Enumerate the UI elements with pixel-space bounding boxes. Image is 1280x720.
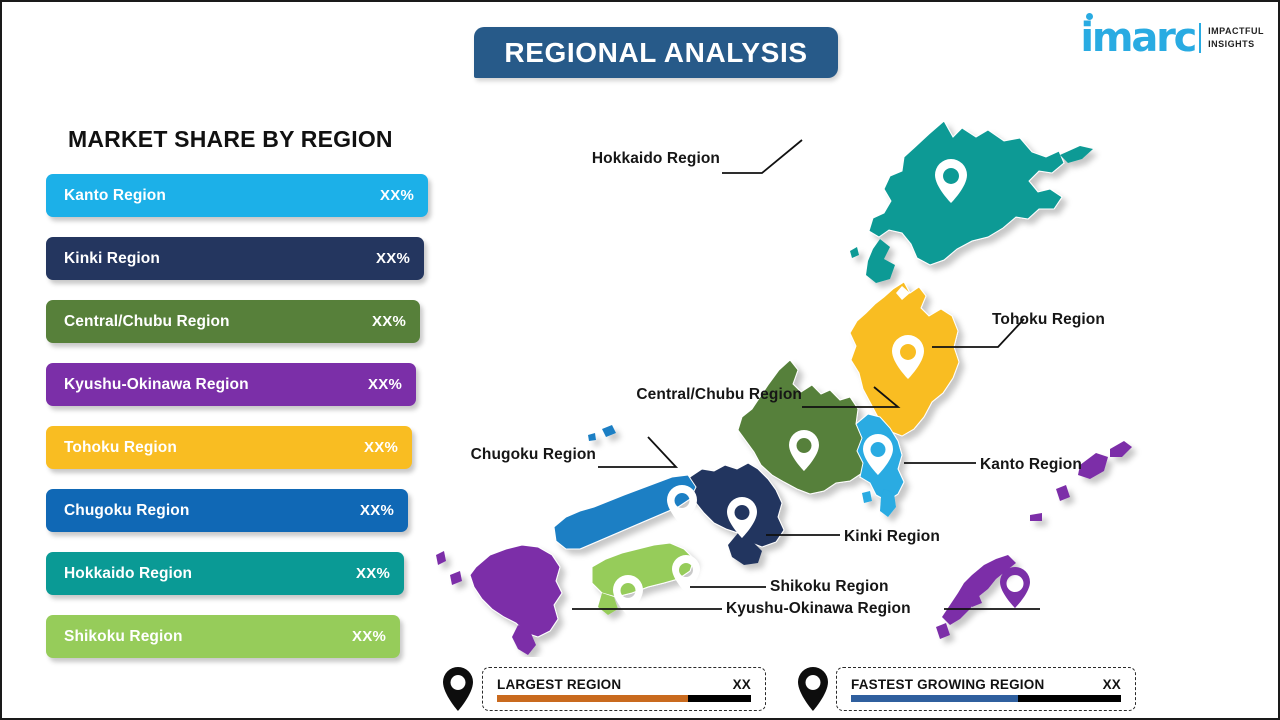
map-label-kyushu: Kyushu-Okinawa Region — [726, 600, 911, 618]
map-label-tohoku: Tohoku Region — [992, 311, 1105, 329]
legend-row[interactable]: Central/Chubu RegionXX% — [46, 300, 420, 343]
legend-row-label: Chugoku Region — [64, 502, 360, 520]
fastest-region-value: XX — [1103, 677, 1121, 692]
logo-tagline-line2: INSIGHTS — [1208, 38, 1264, 51]
map-island-goto — [450, 571, 462, 585]
legend-row-label: Shikoku Region — [64, 628, 352, 646]
legend-row-label: Kanto Region — [64, 187, 380, 205]
largest-region-value: XX — [733, 677, 751, 692]
legend-row-value: XX% — [368, 376, 402, 393]
map-region-kanto-izu — [862, 491, 872, 503]
map-island-amami2 — [1110, 441, 1132, 457]
legend-row-label: Tohoku Region — [64, 439, 364, 457]
slide-root: REGIONAL ANALYSIS imarc IMPACTFUL INSIGH… — [0, 0, 1280, 720]
legend-row-value: XX% — [364, 439, 398, 456]
legend-row[interactable]: Chugoku RegionXX% — [46, 489, 408, 532]
market-share-legend-list: Kanto RegionXX%Kinki RegionXX%Central/Ch… — [46, 174, 428, 678]
map-label-shikoku: Shikoku Region — [770, 578, 889, 596]
market-share-heading: MARKET SHARE BY REGION — [68, 126, 393, 153]
largest-region-pin-icon — [440, 665, 476, 713]
logo-tagline-line1: IMPACTFUL — [1208, 25, 1264, 38]
map-label-kinki: Kinki Region — [844, 528, 940, 546]
legend-row[interactable]: Kinki RegionXX% — [46, 237, 424, 280]
fastest-region-label: FASTEST GROWING REGION — [851, 677, 1044, 692]
map-label-hokkaido: Hokkaido Region — [592, 150, 720, 168]
largest-region-box[interactable]: LARGEST REGION XX — [482, 667, 766, 711]
legend-row-label: Kyushu-Okinawa Region — [64, 376, 368, 394]
fastest-region-progress-fill — [851, 695, 1018, 702]
map-island-tsushima — [436, 551, 446, 565]
legend-row-label: Hokkaido Region — [64, 565, 356, 583]
legend-row-value: XX% — [352, 628, 386, 645]
legend-row[interactable]: Kyushu-Okinawa RegionXX% — [46, 363, 416, 406]
fastest-region-pin-icon — [795, 665, 831, 713]
map-label-chubu: Central/Chubu Region — [636, 386, 802, 404]
map-island-amami — [1078, 453, 1108, 479]
legend-row[interactable]: Tohoku RegionXX% — [46, 426, 412, 469]
legend-row[interactable]: Hokkaido RegionXX% — [46, 552, 404, 595]
imarc-logo: imarc IMPACTFUL INSIGHTS — [1080, 16, 1264, 60]
legend-row-value: XX% — [360, 502, 394, 519]
japan-map-svg — [432, 97, 1232, 657]
map-region-hokkaido[interactable] — [869, 121, 1064, 265]
largest-region-progress-track — [497, 695, 751, 702]
logo-tagline: IMPACTFUL INSIGHTS — [1208, 25, 1264, 51]
map-label-chugoku: Chugoku Region — [471, 446, 596, 464]
fastest-region-top: FASTEST GROWING REGION XX — [851, 677, 1121, 692]
map-region-hokkaido-sw — [866, 239, 895, 283]
map-region-hokkaido-tail — [1060, 146, 1093, 163]
leader-chugoku — [598, 437, 676, 467]
map-island-okinoerabu — [1030, 513, 1042, 521]
page-title: REGIONAL ANALYSIS — [504, 37, 807, 69]
page-title-banner: REGIONAL ANALYSIS — [474, 27, 838, 78]
largest-region-label: LARGEST REGION — [497, 677, 621, 692]
map-island-okushiri — [850, 247, 859, 258]
japan-map: Hokkaido Region Tohoku Region Kanto Regi… — [432, 97, 1232, 657]
largest-region-top: LARGEST REGION XX — [497, 677, 751, 692]
leader-hokkaido — [722, 140, 802, 173]
map-region-tohoku[interactable] — [850, 282, 959, 436]
fastest-region-box[interactable]: FASTEST GROWING REGION XX — [836, 667, 1136, 711]
map-region-okinawa-b — [936, 623, 950, 639]
fastest-region-progress-track — [851, 695, 1121, 702]
legend-row-value: XX% — [372, 313, 406, 330]
legend-row-value: XX% — [376, 250, 410, 267]
map-island-oki — [602, 425, 616, 437]
logo-wordmark: imarc — [1080, 18, 1195, 58]
legend-row-label: Kinki Region — [64, 250, 376, 268]
legend-row[interactable]: Shikoku RegionXX% — [46, 615, 400, 658]
logo-wordmark-text: imarc — [1080, 15, 1195, 61]
pin-chugoku-icon — [667, 485, 697, 526]
map-label-kanto: Kanto Region — [980, 456, 1082, 474]
legend-row-value: XX% — [356, 565, 390, 582]
legend-row-label: Central/Chubu Region — [64, 313, 372, 331]
legend-row[interactable]: Kanto RegionXX% — [46, 174, 428, 217]
logo-divider — [1199, 23, 1201, 53]
largest-region-progress-fill — [497, 695, 688, 702]
map-island-oki2 — [588, 433, 596, 441]
pin-okinawa-icon — [1000, 567, 1030, 608]
legend-row-value: XX% — [380, 187, 414, 204]
map-island-tokunoshima — [1056, 485, 1070, 501]
map-region-kyushu[interactable] — [470, 545, 562, 637]
